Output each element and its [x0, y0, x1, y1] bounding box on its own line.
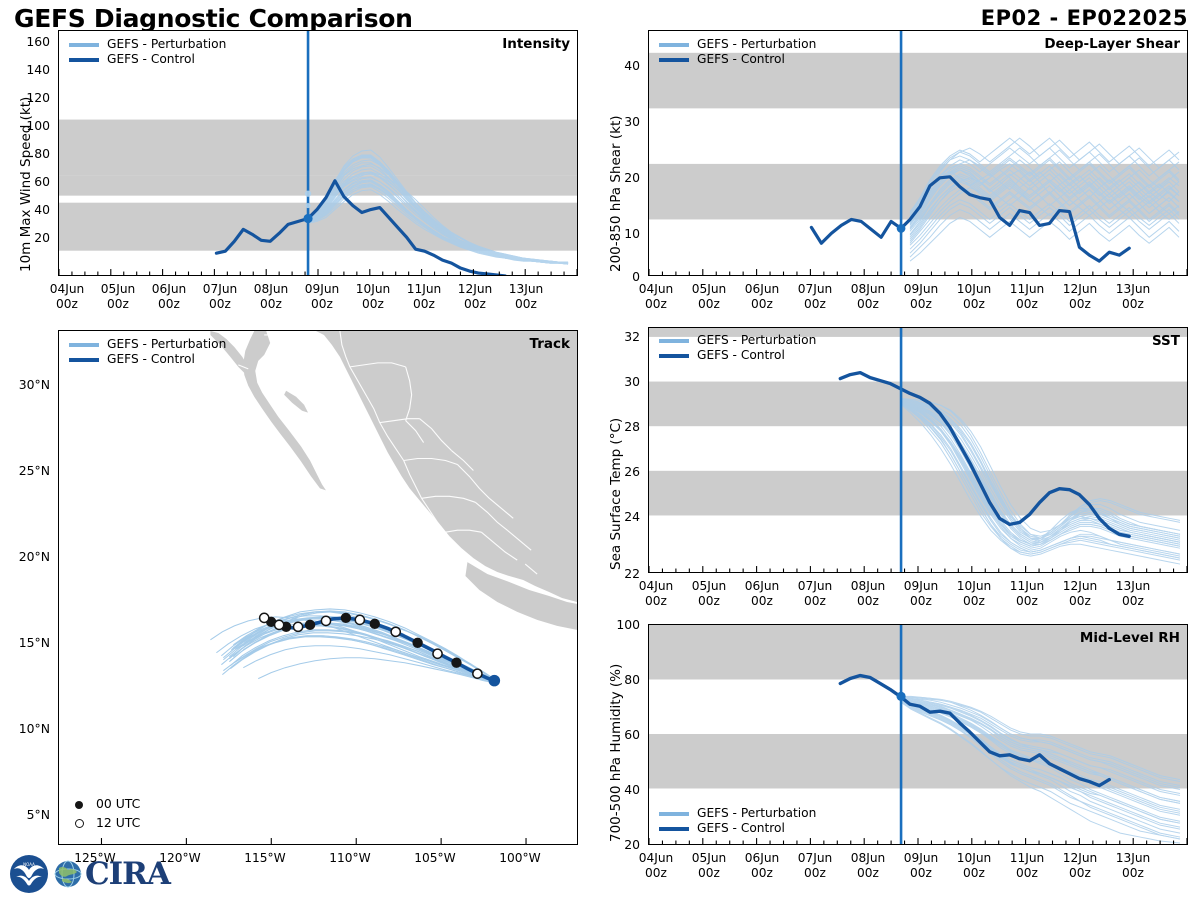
- intensity-plot-area: [59, 31, 577, 275]
- panel-rh[interactable]: Mid-Level RH GEFS - Perturbation GEFS - …: [648, 624, 1188, 845]
- marker-label-00utc: 00 UTC: [96, 796, 140, 811]
- ytick-rh-60: 60: [600, 727, 640, 742]
- svg-text:NOAA: NOAA: [23, 862, 35, 867]
- legend-swatch-control-sst: [659, 354, 689, 358]
- ytick-intensity-20: 20: [6, 230, 50, 245]
- legend-label-perturbation: GEFS - Perturbation: [107, 37, 226, 52]
- ytick-track-20N: 20°N: [2, 549, 50, 564]
- ytick-rh-100: 100: [600, 617, 640, 632]
- ytick-shear-20: 20: [600, 170, 640, 185]
- ytick-intensity-80: 80: [6, 146, 50, 161]
- marker-label-12utc: 12 UTC: [96, 815, 140, 830]
- ytick-sst-28: 28: [600, 419, 640, 434]
- xtick-track-115W: 115°W: [233, 851, 297, 866]
- xtick-intensity-9: 13Jun00z: [494, 282, 558, 311]
- legend-swatch-control-shear: [659, 58, 689, 62]
- band-cat4: [59, 120, 577, 176]
- ytick-rh-20: 20: [600, 837, 640, 852]
- ytick-shear-30: 30: [600, 114, 640, 129]
- noaa-seal-icon: NOAA: [8, 853, 50, 895]
- legend-track: GEFS - Perturbation GEFS - Control: [69, 337, 226, 367]
- ytick-shear-40: 40: [600, 58, 640, 73]
- page-title: GEFS Diagnostic Comparison: [14, 4, 413, 33]
- xtick-rh-9: 13Jun00z: [1101, 851, 1165, 880]
- ytick-intensity-160: 160: [6, 34, 50, 49]
- panel-title-rh: Mid-Level RH: [1080, 630, 1180, 646]
- ytick-track-10N: 10°N: [2, 721, 50, 736]
- legend-swatch-perturbation-track: [69, 343, 99, 347]
- storm-id-title: EP02 - EP022025: [981, 6, 1188, 30]
- panel-track[interactable]: Track GEFS - Perturbation GEFS - Control…: [58, 330, 578, 845]
- init-point-marker: [303, 214, 312, 223]
- panel-title-intensity: Intensity: [502, 36, 570, 52]
- minor-tick-marks: [649, 838, 1187, 844]
- legend-label-perturbation-rh: GEFS - Perturbation: [697, 806, 816, 821]
- legend-shear: GEFS - Perturbation GEFS - Control: [659, 37, 816, 67]
- legend-swatch-control: [69, 58, 99, 62]
- init-point-marker-shear: [897, 224, 906, 233]
- xtick-track-105W: 105°W: [403, 851, 467, 866]
- ytick-sst-32: 32: [600, 329, 640, 344]
- marker-00utc-icon: [71, 796, 87, 811]
- ytick-rh-80: 80: [600, 672, 640, 687]
- panel-intensity[interactable]: Intensity GEFS - Perturbation GEFS - Con…: [58, 30, 578, 276]
- legend-track-markers: 00 UTC 12 UTC: [71, 794, 140, 832]
- marker-12utc-icon: [71, 815, 87, 830]
- panel-shear[interactable]: Deep-Layer Shear GEFS - Perturbation GEF…: [648, 30, 1188, 276]
- legend-sst: GEFS - Perturbation GEFS - Control: [659, 333, 816, 363]
- ytick-sst-26: 26: [600, 464, 640, 479]
- ytick-intensity-140: 140: [6, 62, 50, 77]
- globe-icon: [53, 857, 83, 891]
- ylabel-shear: 200-850 hPa Shear (kt): [608, 115, 624, 272]
- legend-label-control-shear: GEFS - Control: [697, 52, 785, 67]
- minor-tick-marks: [649, 269, 1187, 275]
- shear-plot-area: [649, 31, 1187, 275]
- legend-label-control-rh: GEFS - Control: [697, 821, 785, 836]
- init-point-marker-rh: [896, 692, 905, 701]
- legend-label-perturbation-track: GEFS - Perturbation: [107, 337, 226, 352]
- legend-swatch-perturbation-shear: [659, 43, 689, 47]
- legend-rh: GEFS - Perturbation GEFS - Control: [659, 806, 816, 836]
- band-cat2: [59, 176, 577, 196]
- ytick-rh-40: 40: [600, 782, 640, 797]
- legend-swatch-perturbation-rh: [659, 812, 689, 816]
- legend-label-control-sst: GEFS - Control: [697, 348, 785, 363]
- ytick-intensity-100: 100: [6, 118, 50, 133]
- xtick-track-100W: 100°W: [488, 851, 552, 866]
- minor-tick-marks: [59, 269, 577, 275]
- band-sst-24-26: [649, 471, 1187, 516]
- ytick-track-5N: 5°N: [2, 807, 50, 822]
- logo-group: NOAA CIRA: [8, 852, 170, 896]
- ytick-sst-30: 30: [600, 374, 640, 389]
- xtick-track-110W: 110°W: [318, 851, 382, 866]
- panel-title-track: Track: [530, 336, 570, 352]
- sst-plot-area: [649, 328, 1187, 572]
- legend-label-control-track: GEFS - Control: [107, 352, 195, 367]
- ytick-intensity-120: 120: [6, 90, 50, 105]
- legend-intensity: GEFS - Perturbation GEFS - Control: [69, 37, 226, 67]
- legend-label-control: GEFS - Control: [107, 52, 195, 67]
- ytick-track-30N: 30°N: [2, 377, 50, 392]
- panel-title-shear: Deep-Layer Shear: [1044, 36, 1180, 52]
- legend-swatch-perturbation: [69, 43, 99, 47]
- minor-tick-marks: [649, 566, 1187, 572]
- ylabel-rh: 700-500 hPa Humidity (%): [608, 664, 624, 842]
- legend-label-perturbation-sst: GEFS - Perturbation: [697, 333, 816, 348]
- ytick-track-25N: 25°N: [2, 463, 50, 478]
- ytick-track-15N: 15°N: [2, 635, 50, 650]
- legend-swatch-perturbation-sst: [659, 339, 689, 343]
- panel-sst[interactable]: SST GEFS - Perturbation GEFS - Control: [648, 327, 1188, 573]
- cira-logo-text: CIRA: [85, 856, 170, 892]
- legend-swatch-control-track: [69, 358, 99, 362]
- xtick-shear-9: 13Jun00z: [1101, 282, 1165, 311]
- track-map-area: [59, 331, 577, 844]
- ytick-shear-10: 10: [600, 226, 640, 241]
- ytick-intensity-40: 40: [6, 202, 50, 217]
- ylabel-sst: Sea Surface Temp (°C): [608, 418, 624, 570]
- panel-title-sst: SST: [1152, 333, 1180, 349]
- ytick-intensity-60: 60: [6, 174, 50, 189]
- ytick-sst-24: 24: [600, 509, 640, 524]
- legend-label-perturbation-shear: GEFS - Perturbation: [697, 37, 816, 52]
- xtick-sst-9: 13Jun00z: [1101, 579, 1165, 608]
- legend-swatch-control-rh: [659, 827, 689, 831]
